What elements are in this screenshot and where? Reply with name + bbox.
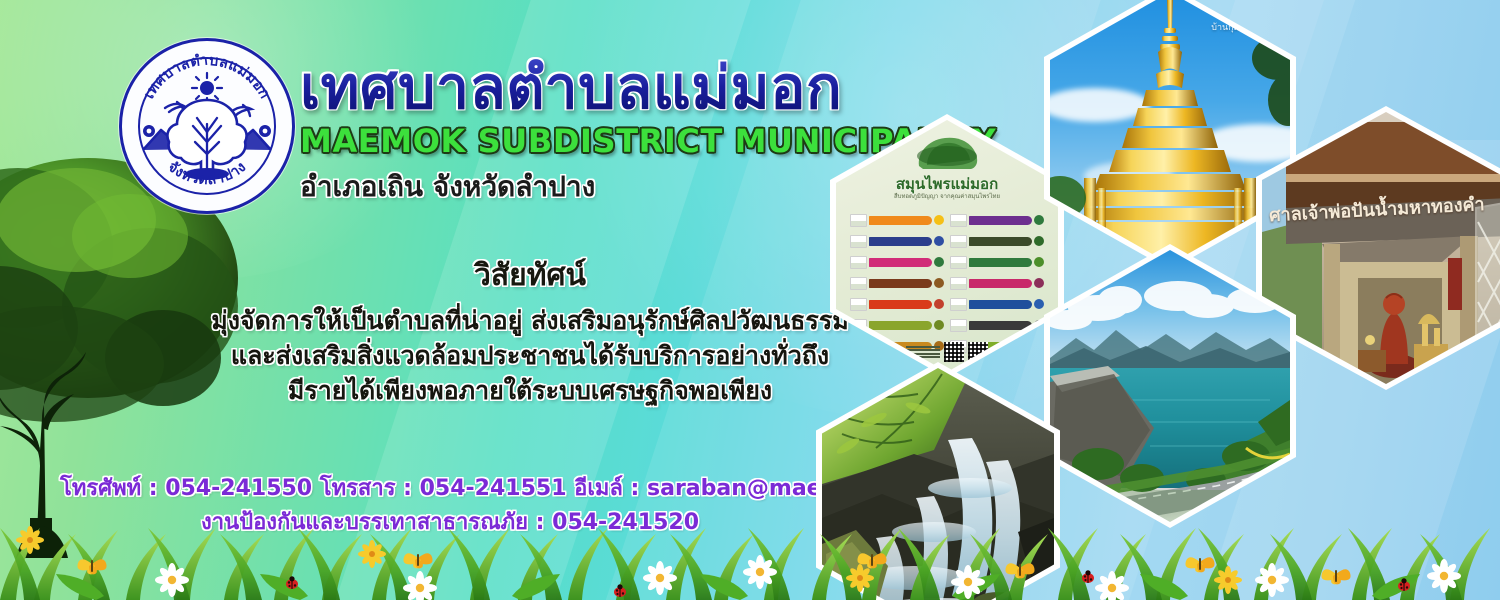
hex-image-waterfall[interactable] bbox=[822, 368, 1054, 600]
herbal-product-grid bbox=[850, 212, 1044, 354]
hex-image-reservoir-dam[interactable] bbox=[1050, 250, 1290, 522]
sun-icon bbox=[192, 73, 222, 103]
vision-block: วิสัยทัศน์ มุ่งจัดการให้เป็นตำบลที่น่าอย… bbox=[205, 252, 855, 408]
herbal-item bbox=[950, 254, 1044, 270]
herbal-item bbox=[950, 296, 1044, 312]
contact-line-emergency[interactable]: งานป้องกันและบรรเทาสาธารณภัย : 054-24152… bbox=[60, 506, 840, 540]
reservoir-illustration bbox=[1050, 250, 1290, 522]
municipality-banner: เทศบาลตำบลแม่มอก จังหวัดลำปาง เทศบาลตำบล… bbox=[0, 0, 1500, 600]
herbal-item bbox=[850, 212, 944, 228]
herbal-item bbox=[850, 254, 944, 270]
seal-artwork: เทศบาลตำบลแม่มอก จังหวัดลำปาง bbox=[119, 38, 295, 214]
herbal-item bbox=[850, 275, 944, 291]
herbal-item bbox=[850, 296, 944, 312]
herbal-item bbox=[950, 275, 1044, 291]
page-title-english: MAEMOK SUBDISTRICT MUNICIPALITY bbox=[300, 122, 960, 160]
vision-heading: วิสัยทัศน์ bbox=[205, 252, 855, 299]
contact-line-phone-fax-email[interactable]: โทรศัพท์ : 054-241550 โทรสาร : 054-24155… bbox=[60, 472, 840, 506]
municipality-seal: เทศบาลตำบลแม่มอก จังหวัดลำปาง bbox=[119, 38, 295, 214]
qr-code-icon bbox=[944, 342, 964, 362]
vision-line-3: มีรายได้เพียงพอภายใต้ระบบเศรษฐกิจพอเพียง bbox=[205, 373, 855, 408]
waterfall-illustration bbox=[822, 368, 1054, 600]
vision-line-1: มุ่งจัดการให้เป็นตำบลที่น่าอยู่ ส่งเสริม… bbox=[205, 303, 855, 338]
herbal-item bbox=[950, 233, 1044, 249]
daisy-flowers bbox=[155, 555, 1461, 600]
herbal-poster-subtitle: สืบทอดภูมิปัญญา จากคุณค่าสมุนไพรไทย bbox=[836, 191, 1058, 201]
contact-block: โทรศัพท์ : 054-241550 โทรสาร : 054-24155… bbox=[60, 472, 840, 540]
page-title-thai: เทศบาลตำบลแม่มอก bbox=[300, 56, 960, 120]
herbal-col-right bbox=[950, 212, 1044, 354]
butterflies bbox=[77, 553, 1350, 584]
herbal-item bbox=[850, 233, 944, 249]
herbal-col-left bbox=[850, 212, 944, 354]
herbal-item bbox=[950, 212, 1044, 228]
vision-line-2: และส่งเสริมสิ่งแวดล้อมประชาชนได้รับบริกา… bbox=[205, 338, 855, 373]
